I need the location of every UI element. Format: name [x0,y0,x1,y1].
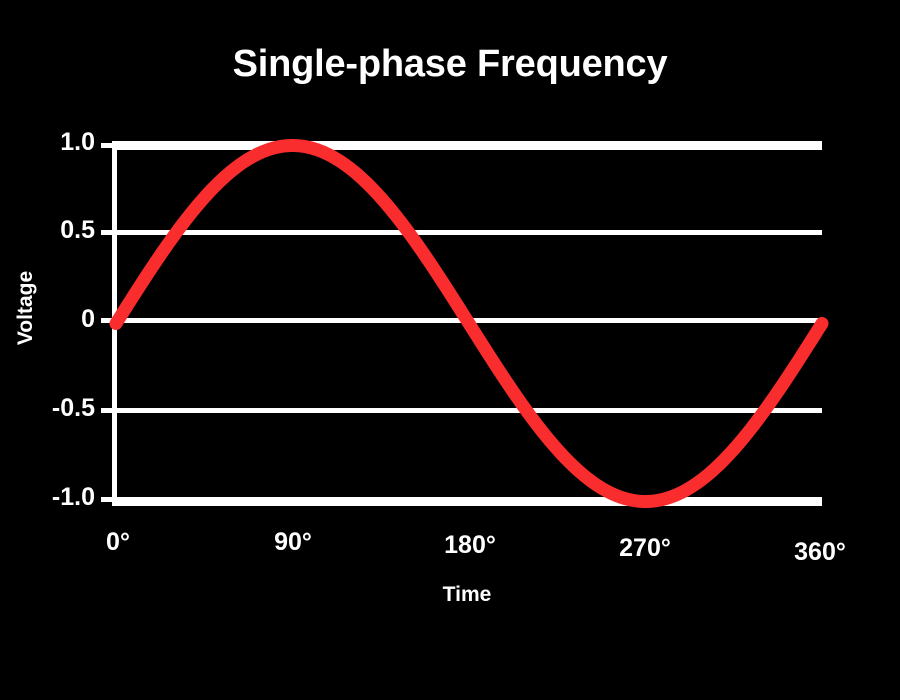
x-tick-label-90: 90° [233,528,353,557]
y-tick-label--0.5: -0.5 [0,394,95,423]
gridline--1.0 [112,497,822,506]
x-tick-label-270: 270° [585,534,705,563]
y-tick-label-1.0: 1.0 [0,128,95,157]
y-tick-mark-1.0 [101,143,113,148]
x-axis-title: Time [112,583,822,607]
y-axis-title: Voltage [14,258,38,358]
y-tick-mark-0 [101,318,113,323]
page-title: Single-phase Frequency [0,44,900,86]
x-tick-label-360: 360° [760,538,880,567]
y-tick-mark--1.0 [101,497,113,502]
gridline--0.5 [112,408,822,413]
x-tick-label-180: 180° [410,531,530,560]
y-tick-label-0.5: 0.5 [0,216,95,245]
x-tick-label-0: 0° [58,528,178,557]
chart-canvas: Single-phase Frequency 1.0 0.5 0 -0.5 -1… [0,0,900,700]
gridline-0.5 [112,230,822,235]
gridline-0 [112,318,822,323]
gridline-1.0 [112,141,822,150]
y-tick-label--1.0: -1.0 [0,483,95,512]
y-axis-spine [112,141,117,505]
y-tick-mark--0.5 [101,408,113,413]
y-tick-mark-0.5 [101,230,113,235]
voltage-series-path [116,146,822,502]
